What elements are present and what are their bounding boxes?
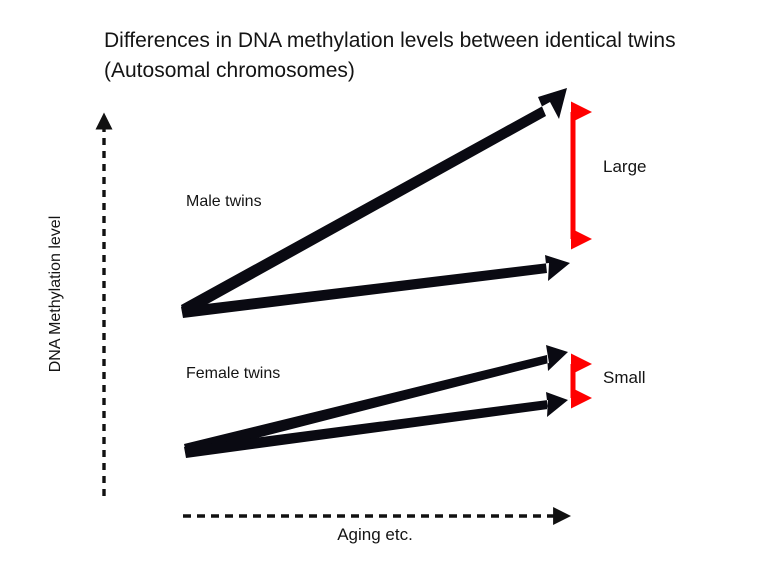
male-twins-label: Male twins bbox=[186, 193, 262, 211]
female-twin-arrow-upper bbox=[184, 345, 568, 456]
x-axis-label: Aging etc. bbox=[260, 525, 490, 545]
diagram-graphics bbox=[0, 0, 768, 576]
male-twin-arrow-lower bbox=[181, 255, 570, 318]
small-gap-label: Small bbox=[603, 368, 646, 388]
female-twins-label: Female twins bbox=[186, 365, 280, 383]
female-twins-arrows bbox=[184, 345, 568, 458]
y-axis-label: DNA Methylation level bbox=[47, 199, 65, 389]
slide-canvas: Differences in DNA methylation levels be… bbox=[0, 0, 768, 576]
large-gap-label: Large bbox=[603, 157, 646, 177]
